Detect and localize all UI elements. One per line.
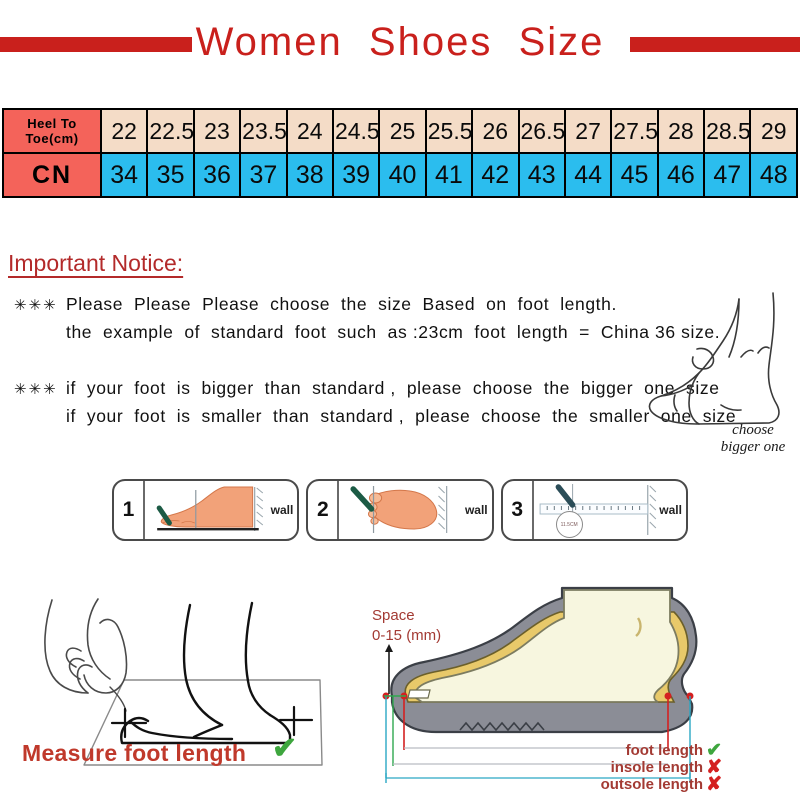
row-header-heel-to-toe: Heel To Toe(cm): [3, 109, 101, 153]
cn-cell: 39: [333, 153, 379, 197]
cn-cell: 38: [287, 153, 333, 197]
check-mark-icon: ✔: [272, 734, 297, 764]
legend-label: outsole length: [601, 776, 704, 793]
cn-cell: 46: [658, 153, 704, 197]
cn-cell: 47: [704, 153, 750, 197]
space-measurement-label: Space 0-15 (mm): [372, 606, 441, 646]
cn-cell: 41: [426, 153, 472, 197]
table-row-cn: CN 34 35 36 37 38 39 40 41 42 43 44 45 4…: [3, 153, 797, 197]
legend-label: foot length: [626, 742, 703, 759]
important-notice-heading: Important Notice:: [8, 250, 183, 277]
step-number: 2: [308, 481, 339, 539]
cm-cell: 22: [101, 109, 147, 153]
wall-label: wall: [465, 503, 488, 517]
step-3-illustration: 11.5CM wall: [534, 481, 686, 539]
notice-text: Please Please Please choose the size Bas…: [66, 294, 617, 314]
notice-block-length: ✳✳✳Please Please Please choose the size …: [14, 291, 720, 346]
cm-cell: 27: [565, 109, 611, 153]
legend-label: insole length: [611, 759, 704, 776]
step-1-illustration: wall: [145, 481, 297, 539]
cm-cell: 29: [750, 109, 797, 153]
cm-cell: 27.5: [611, 109, 657, 153]
wall-label: wall: [271, 503, 294, 517]
notice-line: if your foot is smaller than standard , …: [14, 403, 736, 430]
cn-cell: 35: [147, 153, 193, 197]
cn-cell: 34: [101, 153, 147, 197]
notice-block-bigger-smaller: ✳✳✳if your foot is bigger than standard …: [14, 375, 736, 430]
cross-mark-icon: ✘: [706, 776, 722, 793]
cm-cell: 24: [287, 109, 333, 153]
cm-cell: 25: [379, 109, 425, 153]
asterisk-marker: ✳✳✳: [14, 292, 66, 319]
step-panel-1: 1 wall: [112, 479, 299, 541]
space-line: Space: [372, 606, 441, 626]
cm-cell: 28: [658, 109, 704, 153]
cn-cell: 44: [565, 153, 611, 197]
legend-row-foot-length: foot length ✔: [482, 742, 722, 759]
legend-row-outsole-length: outsole length ✘: [482, 776, 722, 793]
cm-cell: 25.5: [426, 109, 472, 153]
step-panel-2: 2 wall: [306, 479, 493, 541]
cn-cell: 40: [379, 153, 425, 197]
step-panel-3: 3: [501, 479, 688, 541]
cm-cell: 26.5: [519, 109, 565, 153]
caption-line: bigger one: [698, 439, 800, 456]
measure-foot-length-caption: Measure foot length: [22, 740, 246, 767]
cm-cell: 23: [194, 109, 240, 153]
notice-text: the example of standard foot such as :23…: [66, 322, 720, 342]
cn-cell: 37: [240, 153, 286, 197]
cm-cell: 24.5: [333, 109, 379, 153]
cm-cell: 28.5: [704, 109, 750, 153]
page-title: Women Shoes Size: [0, 18, 800, 66]
cn-cell: 45: [611, 153, 657, 197]
choose-bigger-one-caption: choose bigger one: [698, 422, 800, 456]
step-number: 3: [503, 481, 534, 539]
cn-cell: 42: [472, 153, 518, 197]
cm-cell: 26: [472, 109, 518, 153]
step-2-illustration: wall: [339, 481, 491, 539]
cn-cell: 43: [519, 153, 565, 197]
measure-steps-strip: 1 wall 2: [112, 479, 688, 541]
notice-line: ✳✳✳Please Please Please choose the size …: [14, 291, 720, 319]
notice-text: if your foot is smaller than standard , …: [66, 406, 736, 426]
wall-label: wall: [659, 503, 682, 517]
cm-cell: 22.5: [147, 109, 193, 153]
cm-cell: 23.5: [240, 109, 286, 153]
shoe-length-legend: foot length ✔ insole length ✘ outsole le…: [482, 742, 722, 793]
legend-row-insole-length: insole length ✘: [482, 759, 722, 776]
space-line: 0-15 (mm): [372, 626, 441, 646]
row-header-cn: CN: [3, 153, 101, 197]
notice-line: the example of standard foot such as :23…: [14, 319, 720, 346]
cn-cell: 36: [194, 153, 240, 197]
page-title-banner: Women Shoes Size: [0, 18, 800, 74]
table-row-cm: Heel To Toe(cm) 22 22.5 23 23.5 24 24.5 …: [3, 109, 797, 153]
caption-line: choose: [698, 422, 800, 439]
step-number: 1: [114, 481, 145, 539]
size-chart-table: Heel To Toe(cm) 22 22.5 23 23.5 24 24.5 …: [2, 108, 798, 198]
notice-line: ✳✳✳if your foot is bigger than standard …: [14, 375, 736, 403]
ruler-measurement-badge: 11.5CM: [556, 511, 583, 538]
asterisk-marker: ✳✳✳: [14, 376, 66, 403]
notice-text: if your foot is bigger than standard , p…: [66, 378, 720, 398]
cn-cell: 48: [750, 153, 797, 197]
